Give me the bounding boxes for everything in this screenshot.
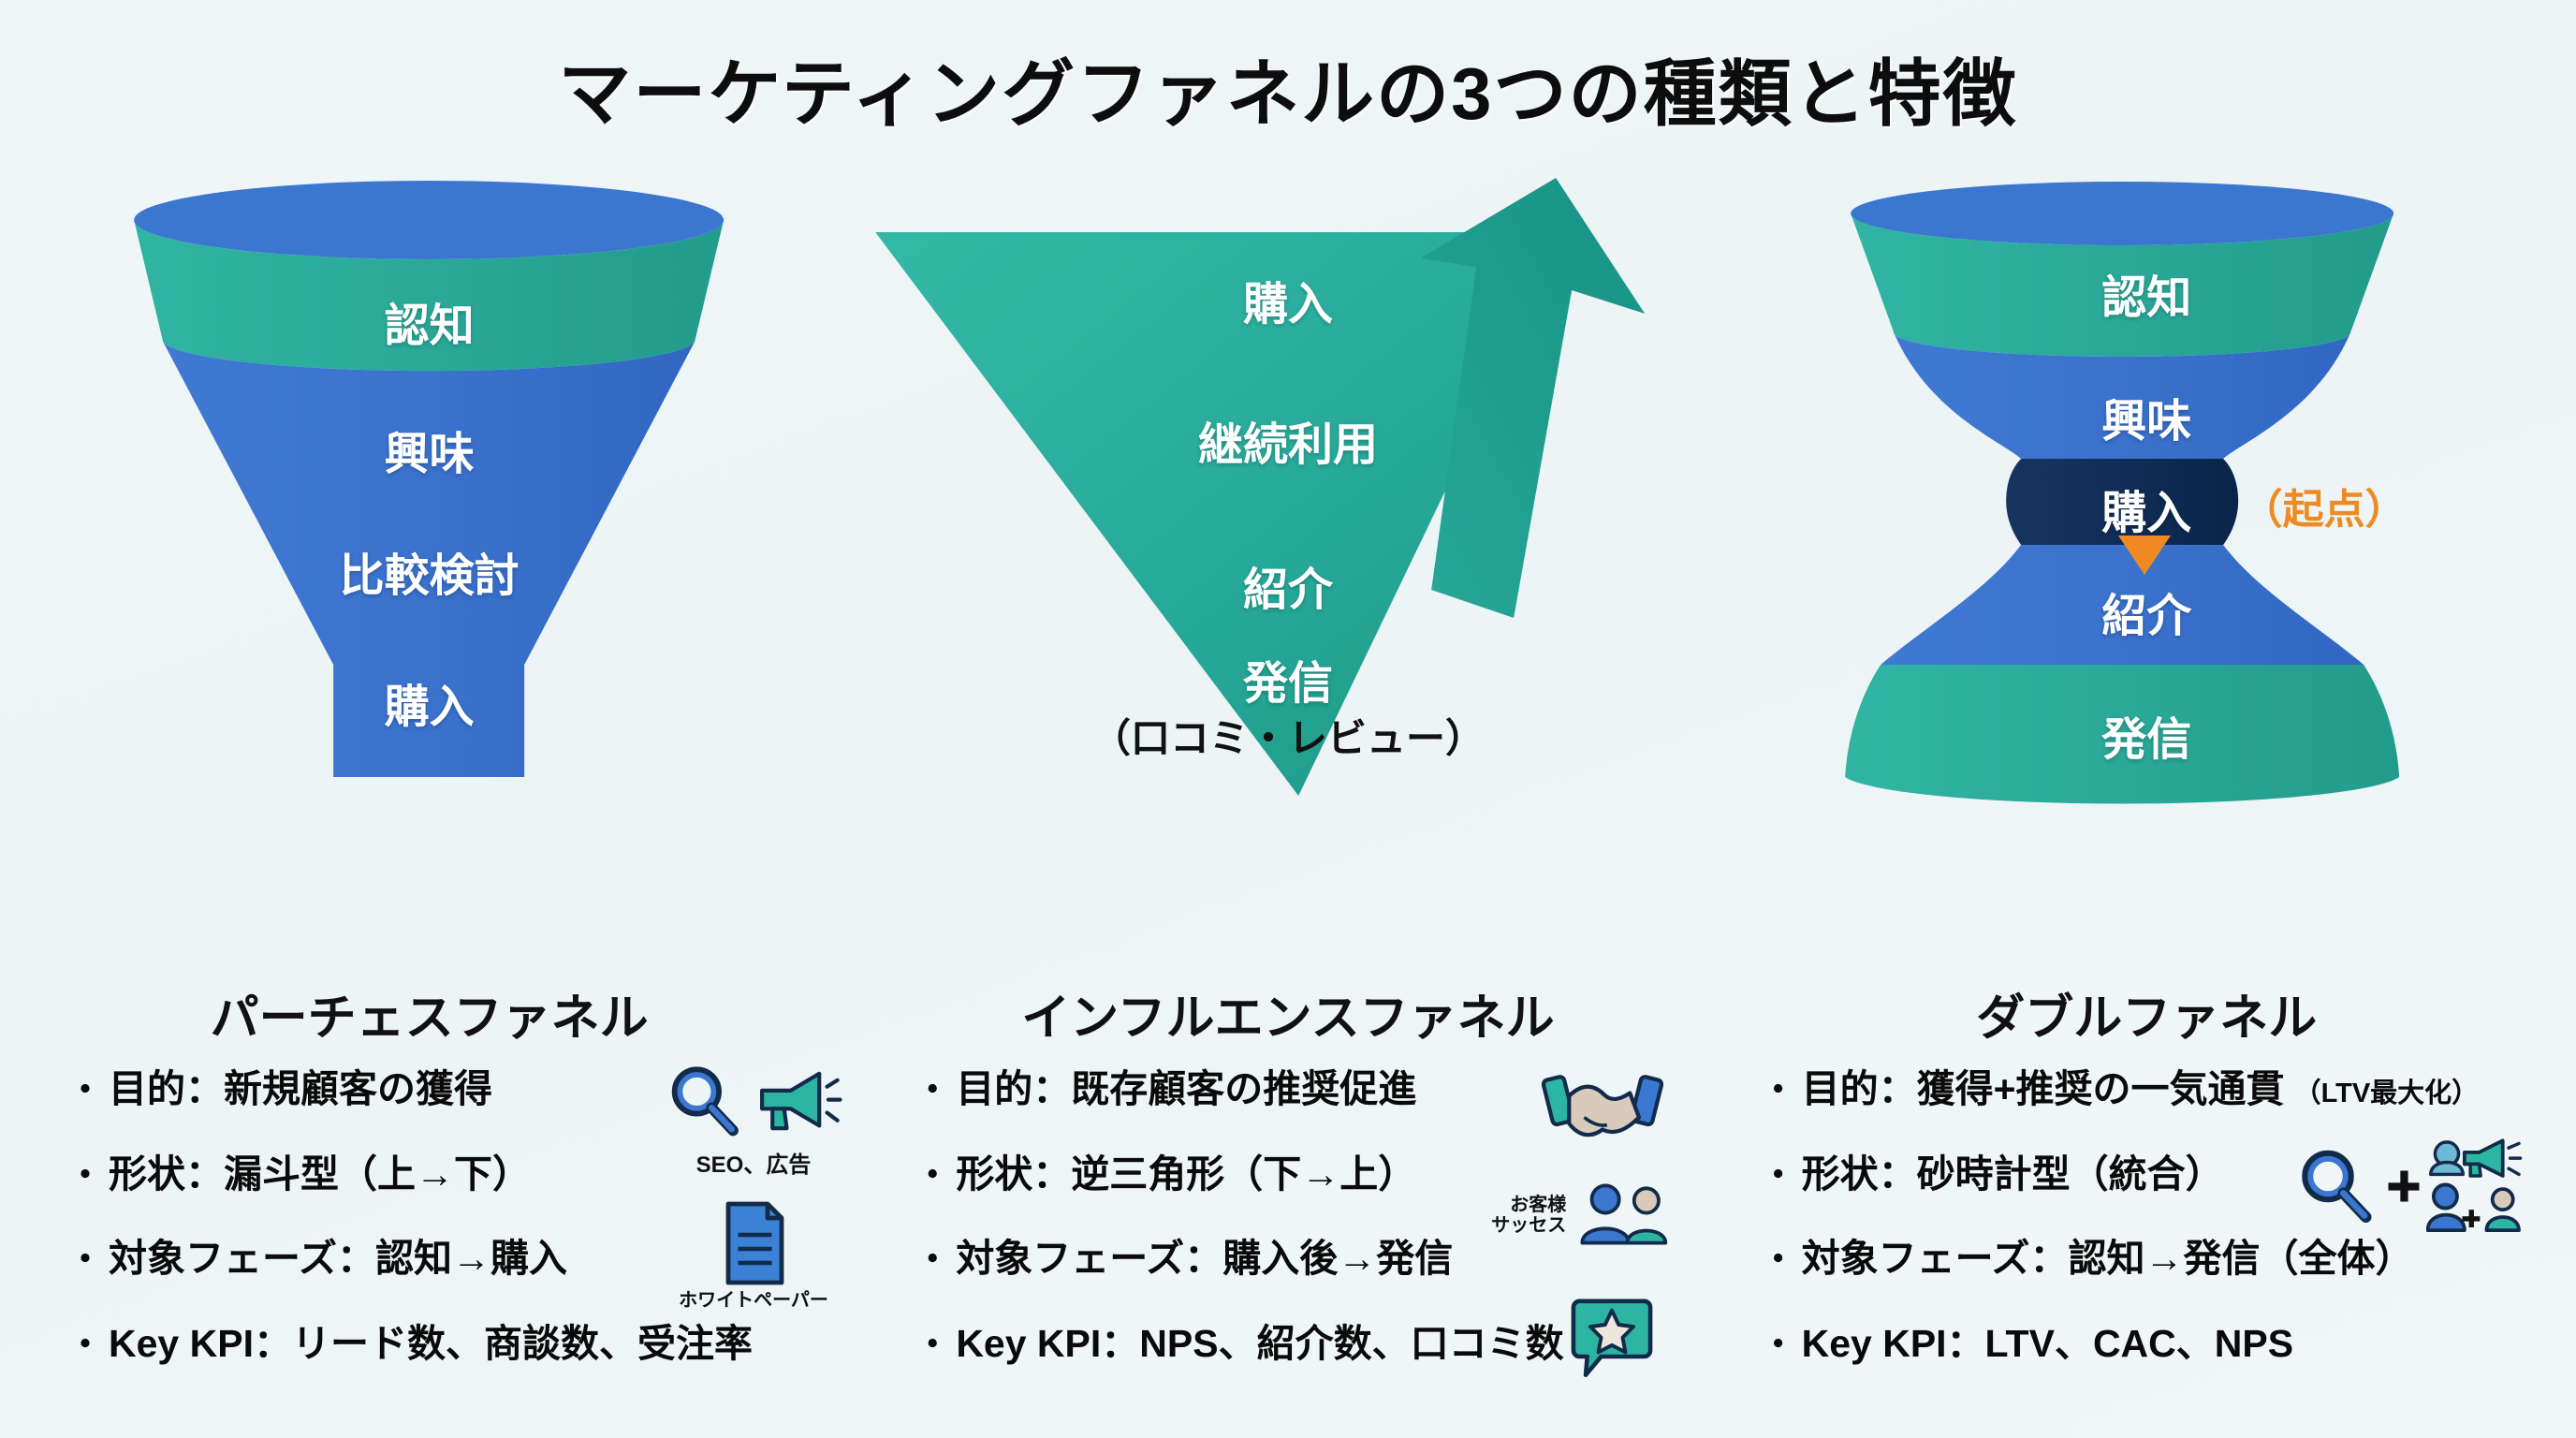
bullet-dot: ・: [1761, 1156, 1796, 1197]
infographic-canvas: マーケティングファネルの3つの種類と特徴: [0, 0, 2576, 1438]
stage-label-interest: 興味: [1718, 384, 2576, 449]
double-funnel-figure: 認知 興味 購入 紹介 発信 （起点）: [1718, 178, 2576, 833]
stage-label-awareness: 認知: [1718, 260, 2576, 326]
stage-label-purchase: 購入: [1718, 476, 2576, 541]
bullet-item: ・ Key KPI：LTV、CAC、NPS: [1761, 1322, 2539, 1367]
search-icon: [2291, 1141, 2381, 1231]
stage-label-purchase: 購入: [0, 669, 858, 735]
icon-group-handshake: [1504, 1063, 1701, 1160]
purchase-funnel-figure: 認知 興味 比較検討 購入: [0, 178, 858, 833]
bullet-item: ・ 目的：獲得+推奨の一気通貫 （LTV最大化）: [1761, 1067, 2539, 1112]
bullet-dot: ・: [67, 1240, 103, 1282]
bullet-text: 目的：既存顧客の推奨促進: [956, 1067, 1416, 1111]
bullet-dot: ・: [67, 1071, 103, 1112]
stage-label-awareness: 認知: [0, 288, 858, 354]
influence-funnel-figure: 購入 継続利用 紹介 発信 （口コミ・レビュー）: [858, 178, 1717, 833]
cone-funnel-graphic: [0, 178, 858, 833]
stage-label-advocacy: 発信: [858, 646, 1717, 712]
stage-label-advocacy: 発信: [1718, 702, 2576, 768]
bullet-subtext: （LTV最大化）: [2294, 1078, 2480, 1109]
icon-caption-seo-ads: SEO、広告: [646, 1146, 861, 1179]
column-purchase-funnel: 認知 興味 比較検討 購入 パーチェスファネル ・ 目的：新規顧客の獲得 ・ 形…: [0, 178, 858, 1438]
document-icon: [716, 1198, 791, 1288]
bullet-dot: ・: [915, 1071, 950, 1112]
bullet-dot: ・: [915, 1156, 950, 1197]
icon-group-seo-ads: SEO、広告: [646, 1058, 861, 1179]
bullet-text: 形状：逆三角形（下→上）: [956, 1152, 1416, 1196]
bullet-item: ・ 対象フェーズ：認知→発信（全体）: [1761, 1237, 2539, 1282]
icon-caption-customer-success: お客様 サッセス: [1491, 1195, 1566, 1236]
plus-icon: [2383, 1166, 2424, 1207]
stage-label-referral: 紹介: [1718, 579, 2576, 644]
funnel-heading-purchase: パーチェスファネル: [0, 978, 858, 1049]
stage-label-purchase: 購入: [858, 267, 1717, 332]
column-double-funnel: 認知 興味 購入 紹介 発信 （起点） ダブルファネル ・ 目的：獲得+推奨の一…: [1718, 178, 2576, 1438]
funnel-annotation-wom: （口コミ・レビュー）: [858, 707, 1717, 764]
stage-label-continued-use: 継続利用: [858, 407, 1717, 473]
icon-group-review: [1514, 1292, 1710, 1378]
people-icon: [1575, 1181, 1676, 1247]
bullet-dot: ・: [1761, 1240, 1796, 1282]
down-triangle-icon: [2118, 536, 2171, 575]
column-influence-funnel: 購入 継続利用 紹介 発信 （口コミ・レビュー） インフルエンスファネル ・ 目…: [858, 178, 1717, 1438]
bullet-dot: ・: [915, 1326, 950, 1367]
bullet-item: ・ Key KPI：リード数、商談数、受注率: [67, 1322, 821, 1367]
bullet-text: 対象フェーズ：認知→購入: [109, 1237, 567, 1281]
bullet-text: Key KPI：リード数、商談数、受注率: [109, 1322, 753, 1366]
bullet-dot: ・: [915, 1240, 950, 1282]
megaphone-icon: [752, 1062, 845, 1140]
icon-group-whitepaper: ホワイトペーパー: [646, 1198, 861, 1311]
page-title: マーケティングファネルの3つの種類と特徴: [0, 36, 2576, 140]
origin-badge: （起点）: [2242, 476, 2407, 536]
icon-group-search-plus-people: [2270, 1137, 2551, 1235]
stage-label-interest: 興味: [0, 417, 858, 482]
stage-label-consideration: 比較検討: [0, 538, 858, 604]
handshake-icon: [1542, 1063, 1663, 1160]
bullet-text: 形状：漏斗型（上→下）: [109, 1152, 531, 1196]
megaphone-people-icon: [2426, 1137, 2529, 1235]
funnel-heading-double: ダブルファネル: [1718, 978, 2576, 1049]
bullet-text: Key KPI：NPS、紹介数、口コミ数: [956, 1322, 1563, 1366]
search-icon: [662, 1058, 748, 1144]
funnel-columns: 認知 興味 比較検討 購入 パーチェスファネル ・ 目的：新規顧客の獲得 ・ 形…: [0, 178, 2576, 1438]
bullet-text: 目的：獲得+推奨の一気通貫: [1802, 1067, 2285, 1111]
icon-caption-whitepaper: ホワイトペーパー: [646, 1290, 861, 1311]
bullet-dot: ・: [67, 1326, 103, 1367]
bullet-text: 目的：新規顧客の獲得: [109, 1067, 492, 1111]
stage-label-referral: 紹介: [858, 552, 1717, 618]
funnel-heading-influence: インフルエンスファネル: [858, 978, 1717, 1049]
bullet-text: Key KPI：LTV、CAC、NPS: [1802, 1322, 2293, 1366]
bullet-text: 対象フェーズ：購入後→発信: [956, 1237, 1453, 1281]
bullet-dot: ・: [1761, 1071, 1796, 1112]
bullet-text: 形状：砂時計型（統合）: [1802, 1152, 2224, 1196]
review-star-bubble-icon: [1567, 1292, 1657, 1378]
bullet-dot: ・: [1761, 1326, 1796, 1367]
double-funnel-bullets: ・ 目的：獲得+推奨の一気通貫 （LTV最大化） ・ 形状：砂時計型（統合） ・…: [1718, 1067, 2576, 1407]
icon-group-customer-success: お客様 サッセス: [1457, 1181, 1710, 1247]
bullet-dot: ・: [67, 1156, 103, 1197]
bullet-text: 対象フェーズ：認知→発信（全体）: [1802, 1237, 2414, 1281]
